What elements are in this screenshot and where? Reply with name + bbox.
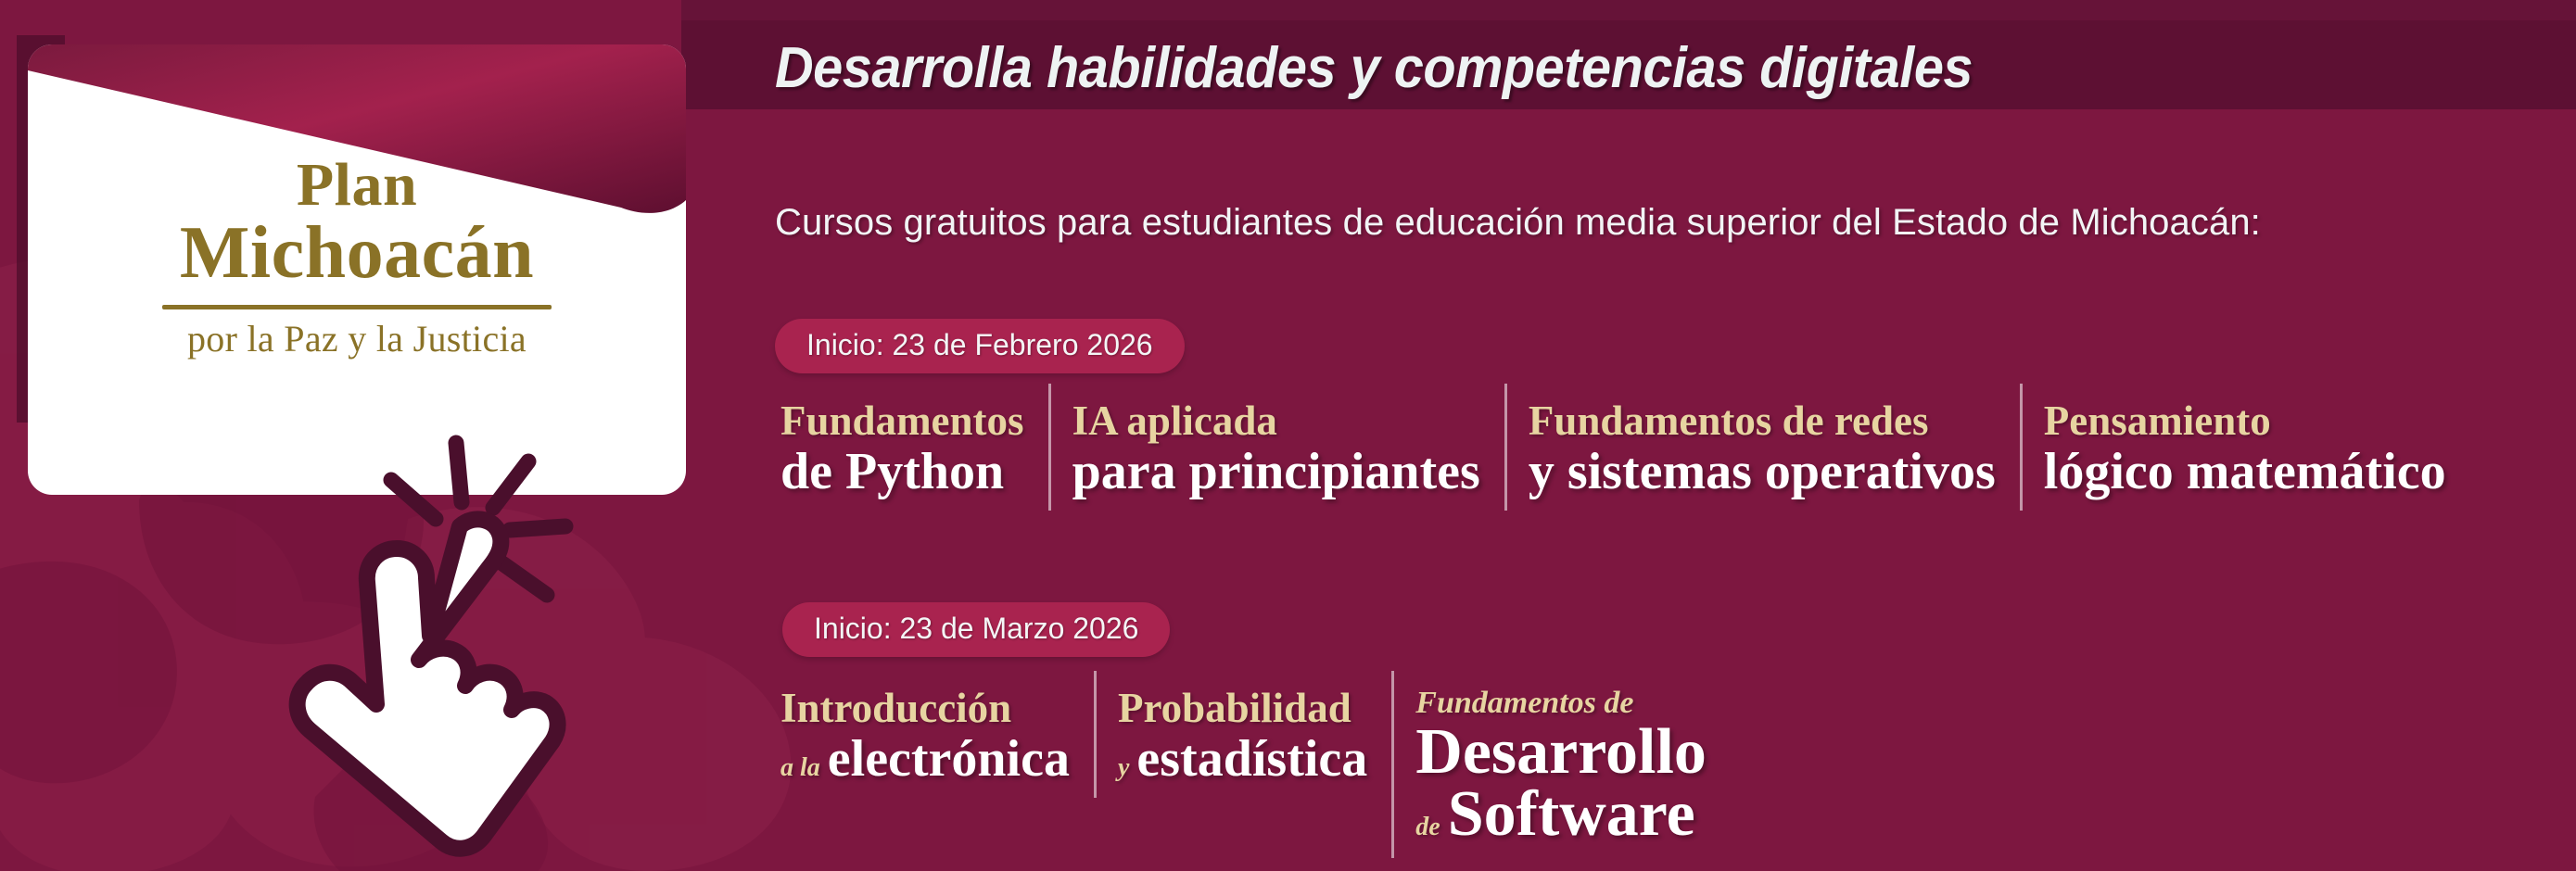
- course-item[interactable]: Fundamentos de Desarrollo deSoftware: [1391, 688, 1731, 845]
- course-list-march: Introducción a laelectrónica Probabilida…: [775, 688, 1731, 845]
- course-prefix-word: y: [1118, 753, 1129, 782]
- course-main-line: lógico matemático: [2044, 446, 2446, 498]
- course-item[interactable]: IA aplicada para principiantes: [1048, 400, 1504, 498]
- course-item[interactable]: Fundamentos de redes y sistemas operativ…: [1504, 400, 2020, 498]
- logo-line-plan: Plan: [28, 154, 686, 216]
- page-title: Desarrolla habilidades y competencias di…: [775, 35, 2447, 101]
- course-main-word: electrónica: [828, 730, 1070, 788]
- course-prefix-word: de: [1415, 813, 1440, 841]
- course-main-line: para principiantes: [1072, 446, 1480, 498]
- course-item[interactable]: Fundamentos de Python: [775, 400, 1048, 498]
- logo-tagline: por la Paz y la Justicia: [28, 319, 686, 360]
- course-prefix-word: a la: [780, 753, 820, 782]
- course-main-line-2: deSoftware: [1415, 783, 1707, 845]
- course-main-line: Desarrollo: [1415, 721, 1707, 783]
- course-top-line: IA aplicada: [1072, 400, 1480, 442]
- course-top-line: Fundamentos de redes: [1529, 400, 1996, 442]
- course-item[interactable]: Introducción a laelectrónica: [775, 688, 1094, 785]
- logo-wordmark: Plan Michoacán por la Paz y la Justicia: [28, 154, 686, 360]
- cohort-date-badge-february: Inicio: 23 de Febrero 2026: [775, 319, 1185, 373]
- course-main-line: a laelectrónica: [780, 733, 1070, 785]
- page-subtitle: Cursos gratuitos para estudiantes de edu…: [775, 202, 2573, 244]
- promo-content: Desarrolla habilidades y competencias di…: [775, 0, 2573, 871]
- course-top-line: Probabilidad: [1118, 688, 1367, 729]
- logo-line-michoacan: Michoacán: [28, 216, 686, 292]
- course-main-line: yestadística: [1118, 733, 1367, 785]
- logo-divider-rule: [162, 305, 552, 309]
- course-main-word-2: Software: [1448, 778, 1695, 850]
- course-top-line: Fundamentos de: [1415, 688, 1707, 719]
- course-top-line: Pensamiento: [2044, 400, 2446, 442]
- course-top-line: Introducción: [780, 688, 1070, 729]
- course-main-line: y sistemas operativos: [1529, 446, 1996, 498]
- course-main-word: estadística: [1136, 730, 1367, 788]
- course-top-line: Fundamentos: [780, 400, 1024, 442]
- course-item[interactable]: Pensamiento lógico matemático: [2020, 400, 2470, 498]
- promo-banner: Plan Michoacán por la Paz y la Justicia …: [0, 0, 2576, 871]
- pointing-hand-click-icon: [278, 417, 667, 871]
- course-list-february: Fundamentos de Python IA aplicada para p…: [775, 400, 2470, 498]
- course-item[interactable]: Probabilidad yestadística: [1094, 688, 1391, 785]
- cohort-date-badge-march: Inicio: 23 de Marzo 2026: [782, 602, 1170, 657]
- course-main-line: de Python: [780, 446, 1024, 498]
